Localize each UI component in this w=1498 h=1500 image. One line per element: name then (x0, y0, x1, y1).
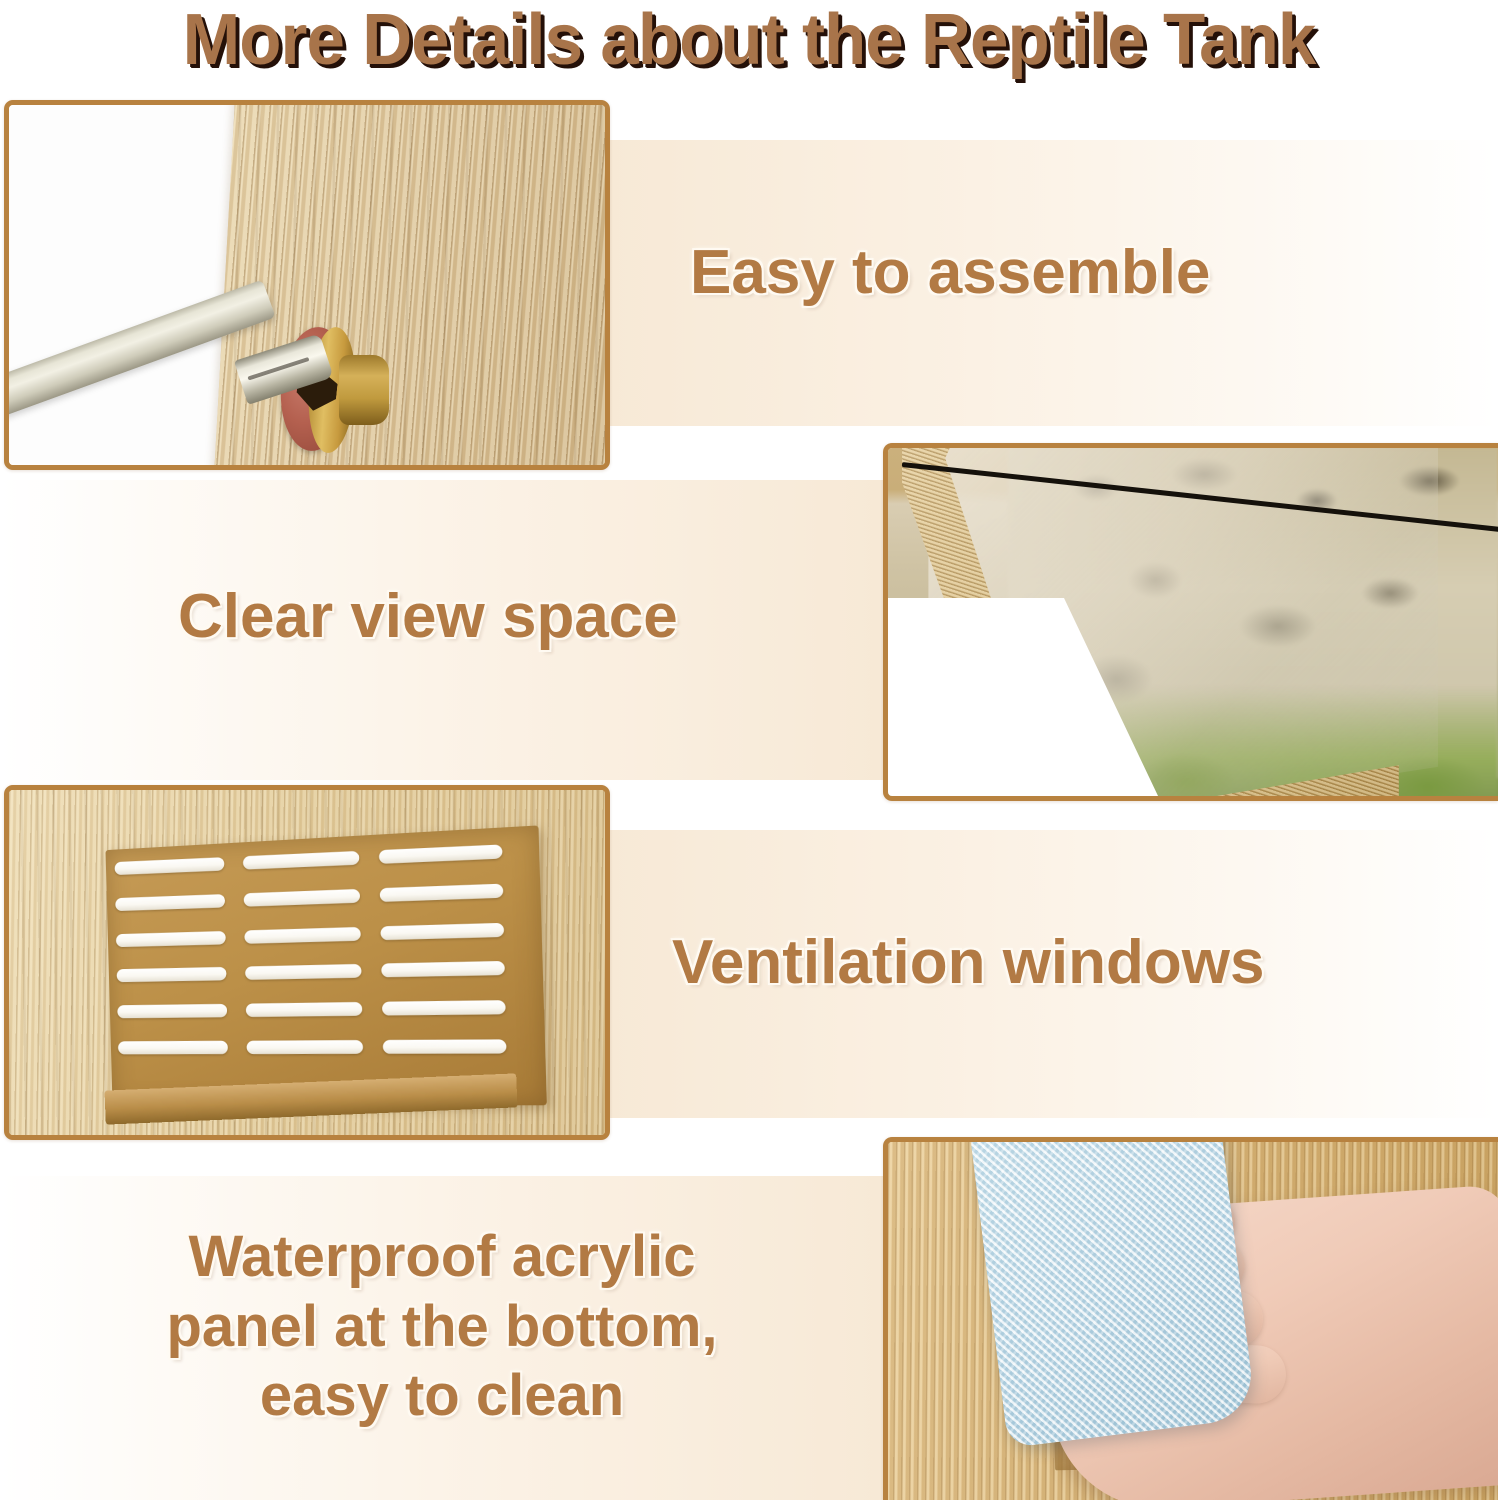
grille-column (114, 853, 228, 1058)
grille-slot (118, 1041, 228, 1055)
caption-line: Waterproof acrylic (0, 1222, 884, 1292)
caption-ventilation-windows: Ventilation windows (672, 928, 1264, 997)
grille-slot (116, 931, 226, 947)
grille-slot (244, 889, 360, 907)
wood-panel (211, 105, 605, 465)
grille-column (243, 847, 363, 1058)
grille-slot (246, 1002, 363, 1017)
grille-slot (380, 922, 504, 939)
caption-easy-to-assemble: Easy to assemble (690, 238, 1210, 307)
grille-slot (379, 844, 503, 863)
page-title: More Details about the Reptile Tank (30, 0, 1468, 86)
photo-waterproof-panel (883, 1137, 1498, 1500)
caption-clear-view-space: Clear view space (178, 582, 678, 651)
photo-clear-view-space (883, 443, 1498, 801)
grille-slot (247, 1040, 364, 1054)
microfiber-cloth (969, 1142, 1256, 1448)
grille-slot (245, 964, 361, 980)
grille-slot (382, 1000, 506, 1015)
screw-head (339, 355, 389, 425)
grille-slot (244, 927, 360, 944)
ventilation-grille (114, 840, 506, 1058)
photo-ventilation-windows (4, 785, 610, 1140)
caption-line: panel at the bottom, (0, 1292, 884, 1362)
grille-column (379, 840, 507, 1058)
caption-line: easy to clean (0, 1361, 884, 1431)
grille-slot (243, 851, 359, 870)
grille-slot (381, 961, 505, 977)
photo-easy-to-assemble (4, 100, 610, 470)
grille-slot (117, 967, 227, 982)
grille-slot (115, 857, 225, 875)
grille-slot (117, 1004, 227, 1018)
grille-slot (380, 883, 504, 901)
grille-slot (383, 1039, 507, 1053)
ventilation-recess (105, 825, 546, 1105)
grille-slot (115, 894, 225, 911)
caption-waterproof-panel: Waterproof acrylic panel at the bottom, … (0, 1222, 884, 1431)
